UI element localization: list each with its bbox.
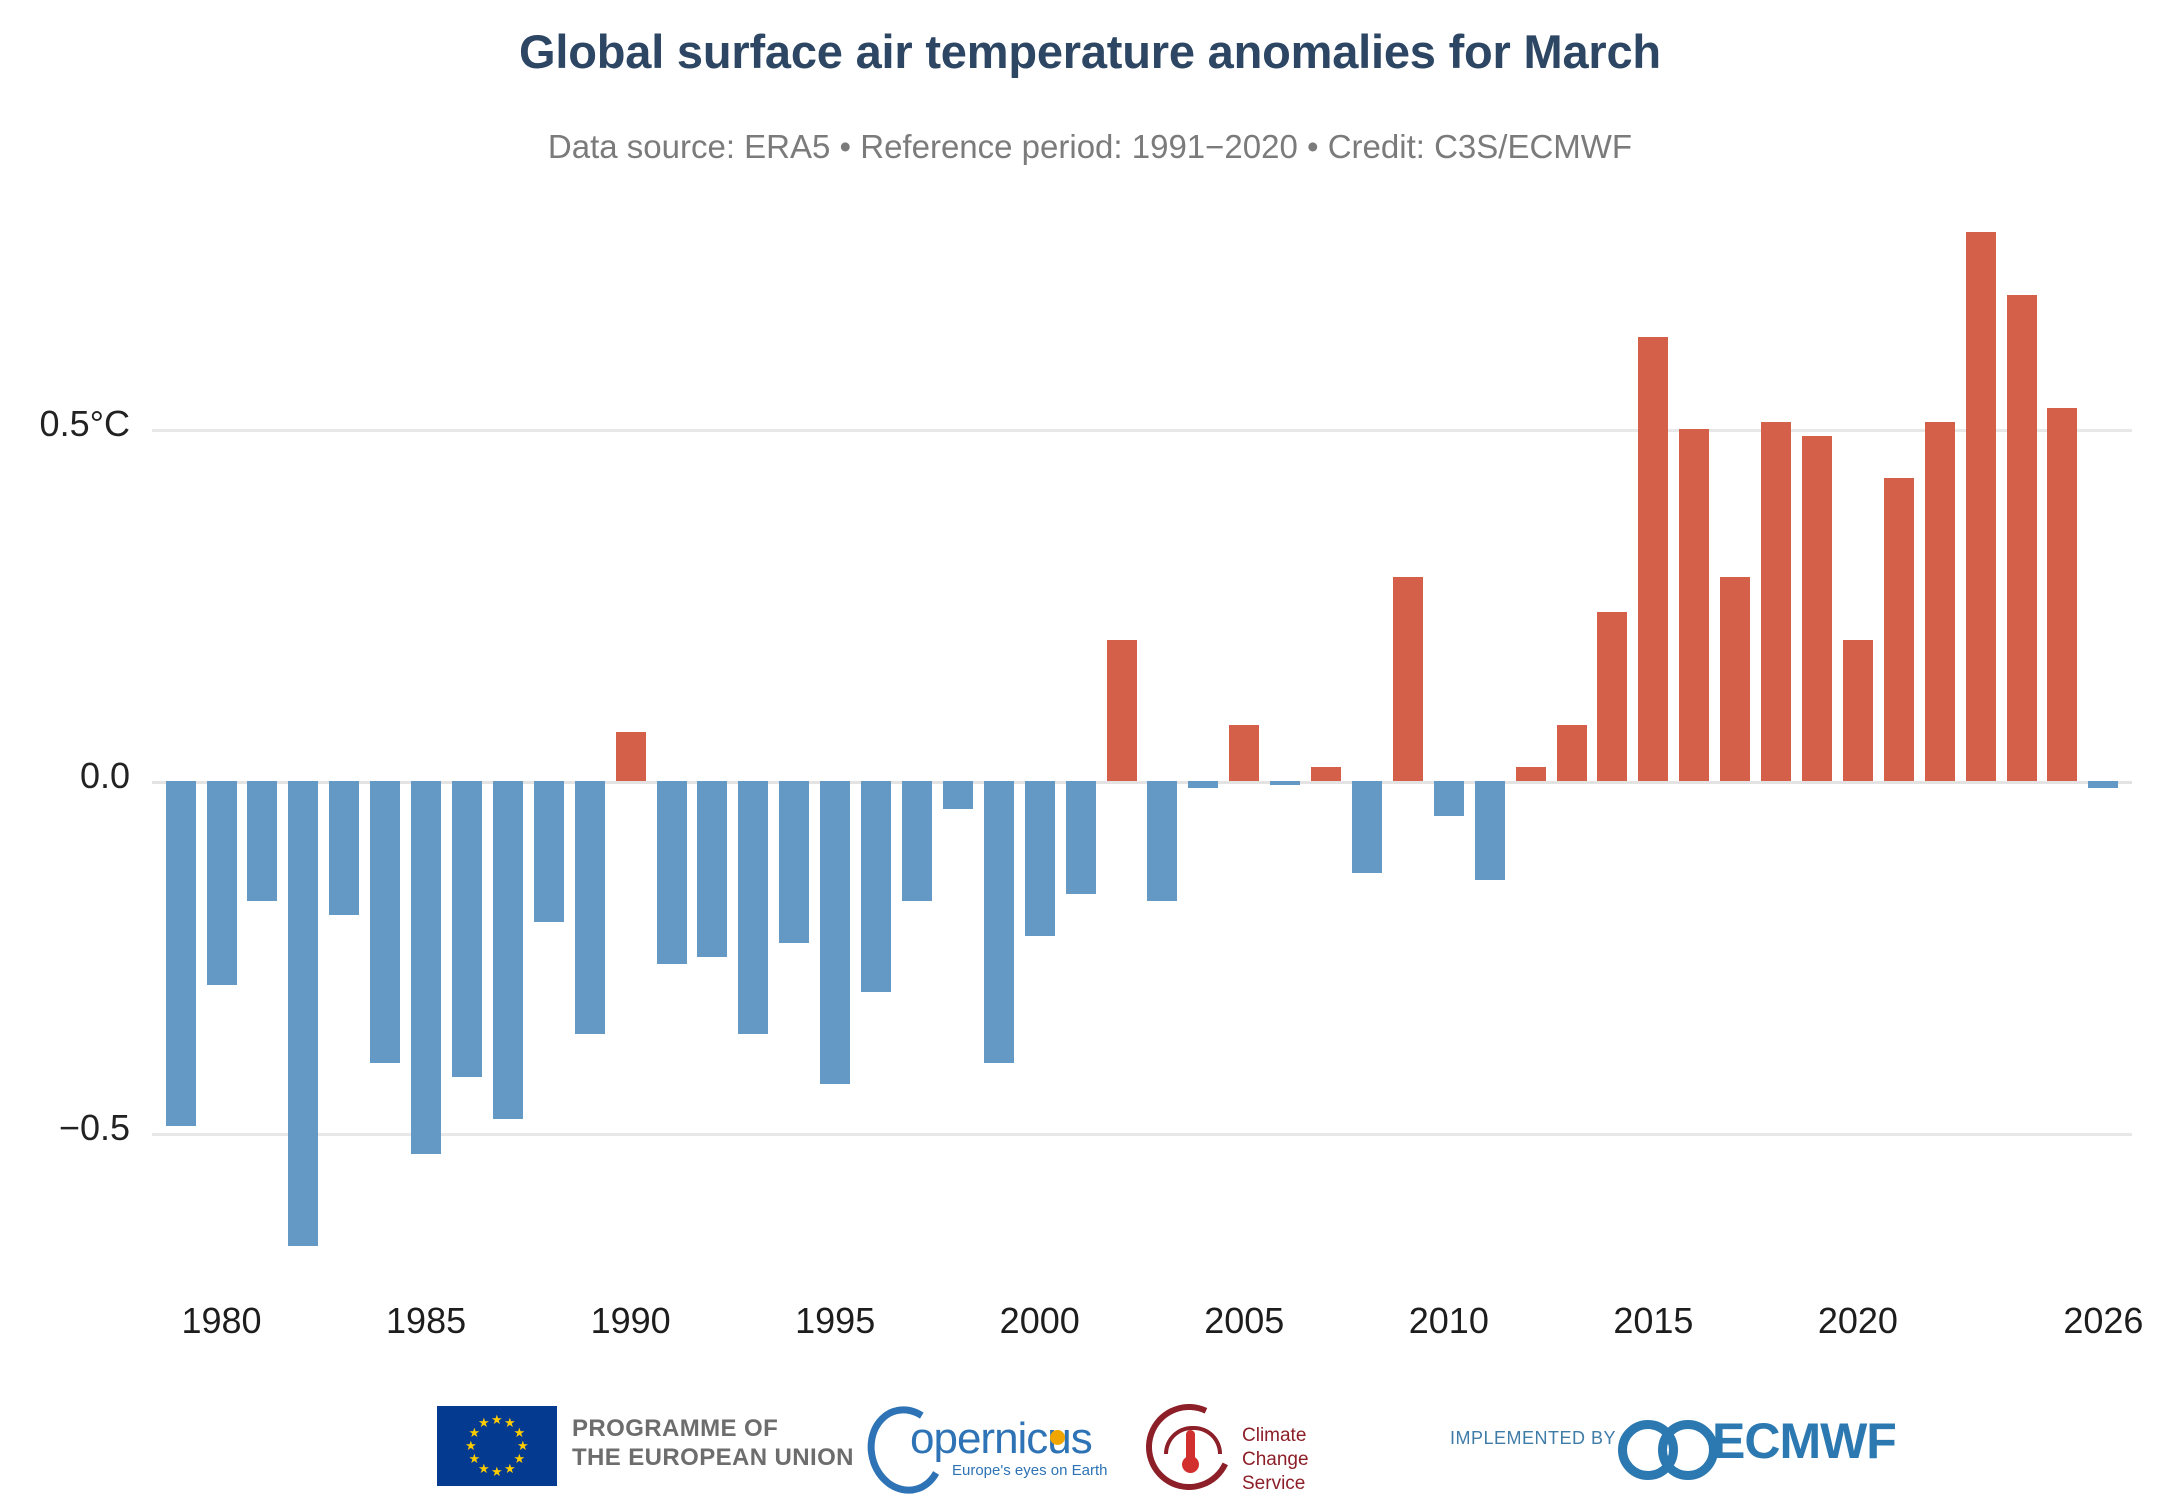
plot-area <box>152 240 2132 1280</box>
bar-2012[interactable] <box>1516 767 1546 781</box>
bar-1981[interactable] <box>247 781 277 901</box>
bar-2000[interactable] <box>1025 781 1055 936</box>
chart-root: Global surface air temperature anomalies… <box>0 0 2180 1490</box>
zero-line <box>152 781 2132 784</box>
eu-star-icon: ★ <box>491 1413 503 1426</box>
bar-2009[interactable] <box>1393 577 1423 781</box>
bar-1992[interactable] <box>697 781 727 957</box>
implemented-by-label: IMPLEMENTED BY <box>1450 1428 1616 1449</box>
ecmwf-symbol-icon <box>1618 1414 1710 1468</box>
ecmwf-wordmark: ECMWF <box>1712 1412 1896 1470</box>
bar-2022[interactable] <box>1925 422 1955 781</box>
eu-flag-icon: ★★★★★★★★★★★★ <box>437 1406 557 1486</box>
eu-programme-label: PROGRAMME OF THE EUROPEAN UNION <box>572 1414 854 1472</box>
bar-2016[interactable] <box>1679 429 1709 781</box>
bar-2008[interactable] <box>1352 781 1382 873</box>
eu-star-icon: ★ <box>465 1439 477 1452</box>
bar-1998[interactable] <box>943 781 973 809</box>
bar-2006[interactable] <box>1270 781 1300 785</box>
copernicus-logo: opernicus Europe's eyes on Earth <box>868 1404 1108 1482</box>
c3s-label: Climate Change Service <box>1242 1424 1376 1496</box>
bar-1990[interactable] <box>616 732 646 781</box>
bar-2011[interactable] <box>1475 781 1505 880</box>
eu-programme-line1: PROGRAMME OF <box>572 1414 854 1443</box>
bar-1985[interactable] <box>411 781 441 1154</box>
x-tick-label-2015: 2015 <box>1613 1300 1693 1342</box>
copernicus-dot-icon <box>1050 1430 1065 1445</box>
chart-title: Global surface air temperature anomalies… <box>0 24 2180 79</box>
bar-1991[interactable] <box>657 781 687 964</box>
bar-1988[interactable] <box>534 781 564 922</box>
gridline-neg-half <box>152 1133 2132 1136</box>
eu-star-icon: ★ <box>468 1452 480 1465</box>
bar-2013[interactable] <box>1557 725 1587 781</box>
bar-2010[interactable] <box>1434 781 1464 816</box>
x-tick-label-2026: 2026 <box>2063 1300 2143 1342</box>
thermometer-bulb-icon <box>1182 1456 1199 1473</box>
y-tick-label-1: 0.0 <box>0 755 130 797</box>
bar-2015[interactable] <box>1638 337 1668 781</box>
bar-1997[interactable] <box>902 781 932 901</box>
bar-1984[interactable] <box>370 781 400 1063</box>
bar-1996[interactable] <box>861 781 891 992</box>
bar-2021[interactable] <box>1884 478 1914 781</box>
bar-1995[interactable] <box>820 781 850 1084</box>
bar-2004[interactable] <box>1188 781 1218 788</box>
bar-2001[interactable] <box>1066 781 1096 894</box>
bar-2014[interactable] <box>1597 612 1627 781</box>
bar-2024[interactable] <box>2007 295 2037 781</box>
bar-1983[interactable] <box>329 781 359 915</box>
bar-1980[interactable] <box>207 781 237 985</box>
copernicus-tagline: Europe's eyes on Earth <box>952 1462 1107 1479</box>
x-tick-label-1985: 1985 <box>386 1300 466 1342</box>
bar-1987[interactable] <box>493 781 523 1119</box>
bar-2020[interactable] <box>1843 640 1873 781</box>
x-tick-label-2020: 2020 <box>1818 1300 1898 1342</box>
bar-1999[interactable] <box>984 781 1014 1063</box>
bar-2026[interactable] <box>2088 781 2118 788</box>
c3s-logo: Climate Change Service <box>1146 1402 1376 1482</box>
x-tick-label-1995: 1995 <box>795 1300 875 1342</box>
bar-2007[interactable] <box>1311 767 1341 781</box>
gridline-pos-half <box>152 429 2132 432</box>
ecmwf-ring-right-icon <box>1658 1420 1718 1480</box>
bar-1994[interactable] <box>779 781 809 943</box>
bar-2018[interactable] <box>1761 422 1791 781</box>
x-tick-label-2005: 2005 <box>1204 1300 1284 1342</box>
bar-1989[interactable] <box>575 781 605 1034</box>
c3s-line1: Climate <box>1242 1424 1376 1448</box>
x-tick-label-1980: 1980 <box>181 1300 261 1342</box>
x-tick-label-2000: 2000 <box>1000 1300 1080 1342</box>
bar-2019[interactable] <box>1802 436 1832 781</box>
bar-2002[interactable] <box>1107 640 1137 781</box>
c3s-line2: Change Service <box>1242 1448 1376 1496</box>
ecmwf-logo: IMPLEMENTED BY ECMWF <box>1450 1412 1870 1474</box>
x-tick-label-2010: 2010 <box>1409 1300 1489 1342</box>
bar-2005[interactable] <box>1229 725 1259 781</box>
bar-1986[interactable] <box>452 781 482 1077</box>
chart-subtitle: Data source: ERA5 • Reference period: 19… <box>0 128 2180 166</box>
x-tick-label-1990: 1990 <box>591 1300 671 1342</box>
eu-star-icon: ★ <box>504 1462 516 1475</box>
bar-1993[interactable] <box>738 781 768 1034</box>
bar-1982[interactable] <box>288 781 318 1246</box>
y-tick-label-2: −0.5 <box>0 1107 130 1149</box>
bar-2025[interactable] <box>2047 408 2077 781</box>
bar-2003[interactable] <box>1147 781 1177 901</box>
eu-star-icon: ★ <box>478 1416 490 1429</box>
eu-star-icon: ★ <box>491 1465 503 1478</box>
footer-logos: ★★★★★★★★★★★★ PROGRAMME OF THE EUROPEAN U… <box>0 1398 2180 1490</box>
eu-programme-line2: THE EUROPEAN UNION <box>572 1443 854 1472</box>
y-tick-label-0: 0.5°C <box>0 403 130 445</box>
bar-1979[interactable] <box>166 781 196 1126</box>
bar-2017[interactable] <box>1720 577 1750 781</box>
bar-2023[interactable] <box>1966 232 1996 781</box>
